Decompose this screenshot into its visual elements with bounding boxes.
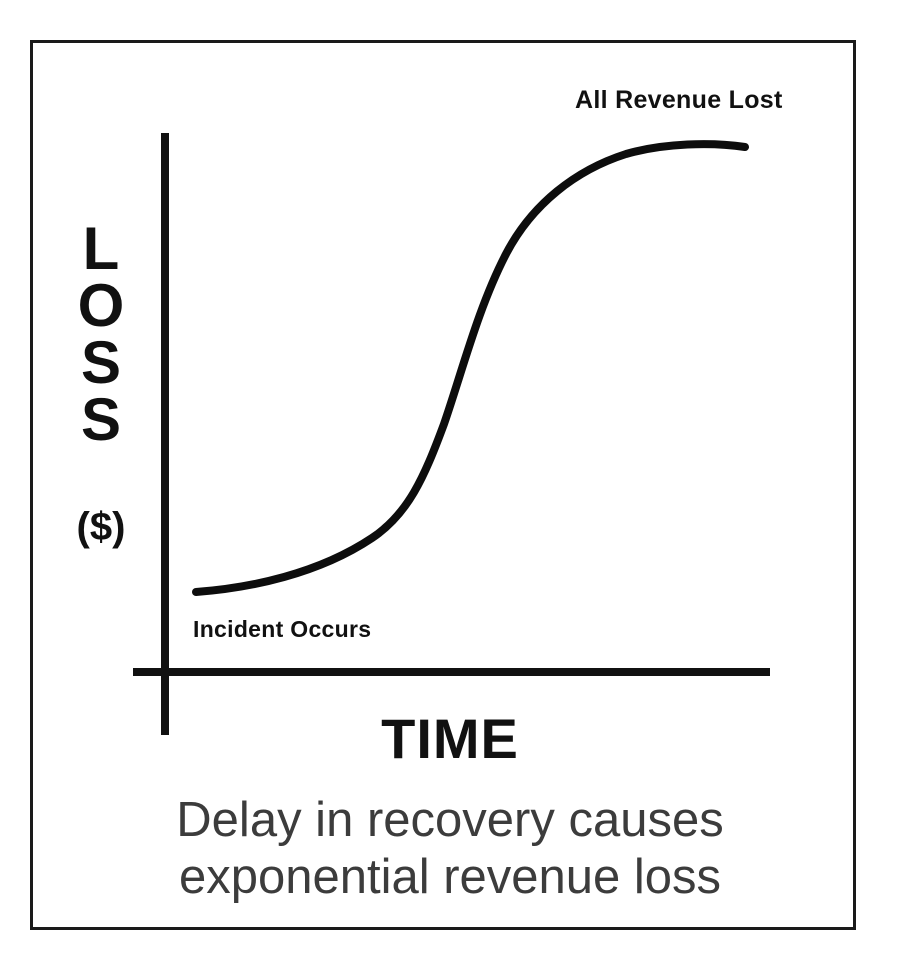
x-axis-title: TIME <box>0 706 900 771</box>
loss-vs-time-figure: All Revenue Lost Incident Occurs L O S S… <box>0 0 900 977</box>
y-axis-units-label: ($) <box>70 505 132 550</box>
figure-caption: Delay in recovery causes exponential rev… <box>60 792 840 906</box>
loss-curve <box>196 144 745 592</box>
y-axis-letter-1: L <box>83 220 120 277</box>
caption-line-2: exponential revenue loss <box>60 849 840 906</box>
caption-line-1: Delay in recovery causes <box>60 792 840 849</box>
y-axis-letter-2: O <box>78 277 125 334</box>
annotation-incident-occurs: Incident Occurs <box>193 616 371 643</box>
annotation-all-revenue-lost: All Revenue Lost <box>575 86 783 115</box>
y-axis-title: L O S S <box>70 220 132 448</box>
y-axis-letter-4: S <box>81 391 121 448</box>
y-axis-letter-3: S <box>81 334 121 391</box>
